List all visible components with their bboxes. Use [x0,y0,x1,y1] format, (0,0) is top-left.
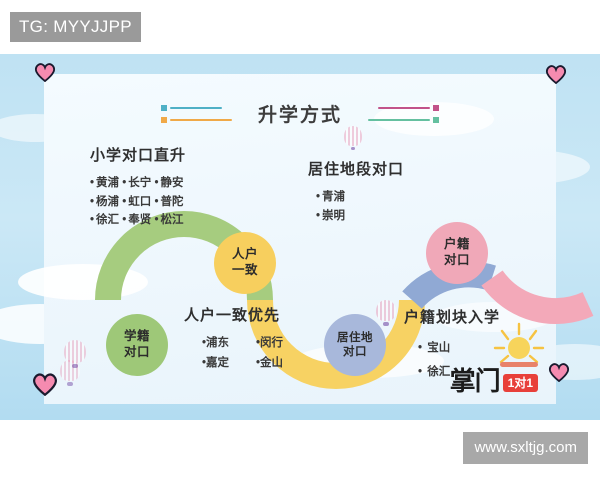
block-primary-direct: 小学对口直升 •黄浦 •长宁 •静安 •杨浦 •虹口 •普陀 •徐汇 •奉贤 •… [90,144,186,230]
bullet-line: •黄浦 •长宁 •静安 [90,174,186,193]
deco-lines-left [161,105,232,123]
heart-icon [34,62,56,82]
block-title: 户籍划块入学 [404,306,500,327]
deco-dot-icon [161,117,167,123]
circle-label: 学籍对口 [124,329,150,360]
circle-hukou: 户籍对口 [426,222,488,284]
deco-dot-icon [161,105,167,111]
bullet-grid: •浦东 •闵行 •嘉定 •金山 [202,334,296,373]
heart-icon [548,362,570,382]
bullet-cell: •闵行 [256,334,296,354]
brand-logo-text: 掌门 [450,368,500,394]
deco-line-icon [368,119,430,121]
sun-icon [490,322,548,368]
heart-icon [545,64,567,84]
heart-icon [32,372,58,396]
deco-dot-icon [433,117,439,123]
wave-segment-pink [492,278,588,311]
bullet-cell: •金山 [256,354,296,374]
bullet-cell: •嘉定 [202,354,242,374]
bullet-cell: •浦东 [202,334,242,354]
circle-label: 人户一致 [232,247,258,278]
poster-image: 升学方式 小 [0,54,600,420]
content-board: 升学方式 小 [44,74,556,404]
bullet-line: • 宝山 [418,336,500,360]
deco-line-icon [378,107,430,109]
block-title: 人户一致优先 [184,304,296,325]
circle-residence: 居住地对口 [324,314,386,376]
hot-air-balloon-icon [64,340,86,370]
page-title: 升学方式 [258,100,342,127]
bullet-line: •青浦 [316,188,404,207]
bullet-line: •徐汇 •奉贤 •松江 [90,211,186,230]
tg-watermark: TG: MYYJJPP [10,12,141,42]
deco-lines-right [368,105,439,123]
deco-dot-icon [433,105,439,111]
poster-header: 升学方式 [44,100,556,127]
bullet-line: •杨浦 •虹口 •普陀 [90,193,186,212]
deco-line-icon [170,119,232,121]
brand-logo-badge: 1对1 [503,374,538,392]
brand-logo: 掌门 1对1 [450,368,538,394]
block-household-match-priority: 人户一致优先 •浦东 •闵行 •嘉定 •金山 [184,304,296,373]
block-title: 小学对口直升 [90,144,186,165]
deco-line-icon [170,107,222,109]
bullet-line: •崇明 [316,207,404,226]
circle-label: 居住地对口 [337,331,373,360]
block-residence-zone: 居住地段对口 •青浦 •崇明 [308,158,404,225]
block-title: 居住地段对口 [308,158,404,179]
circle-school-roll: 学籍对口 [106,314,168,376]
url-watermark: www.sxltjg.com [463,432,588,464]
circle-label: 户籍对口 [444,237,470,268]
circle-household-match: 人户一致 [214,232,276,294]
